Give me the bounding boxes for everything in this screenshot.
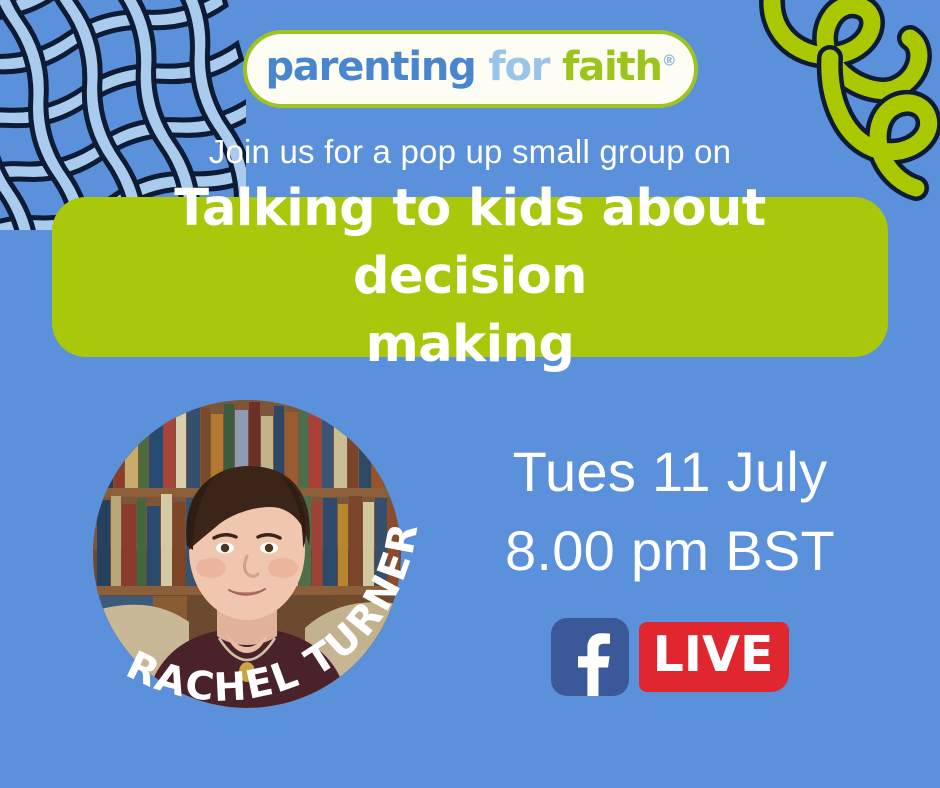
event-when-block: Tues 11 July 8.00 pm BST [460,443,880,579]
registered-trademark-icon: ® [662,52,676,70]
event-date: Tues 11 July [460,443,880,500]
event-title-line-2: making [78,311,862,379]
facebook-f-icon[interactable] [551,618,629,696]
title-banner: Talking to kids about decision making [52,197,888,357]
live-label: LIVE [653,630,774,679]
logo-word-parenting: parenting [265,44,475,90]
event-title: Talking to kids about decision making [78,175,862,378]
event-time: 8.00 pm BST [460,522,880,579]
facebook-live-row: LIVE [460,618,880,696]
parenting-for-faith-logo: parenting for faith® [243,30,698,108]
logo-word-faith: faith [562,44,662,90]
subheadline: Join us for a pop up small group on [0,133,940,171]
promo-poster: parenting for faith® Join us for a pop u… [0,0,940,788]
logo-wordmark: parenting for faith® [265,47,675,87]
logo-word-for: for [488,44,549,90]
speaker-photo [93,400,401,708]
speaker-portrait [93,400,401,708]
live-badge: LIVE [639,622,790,692]
event-title-line-1: Talking to kids about decision [78,175,862,311]
